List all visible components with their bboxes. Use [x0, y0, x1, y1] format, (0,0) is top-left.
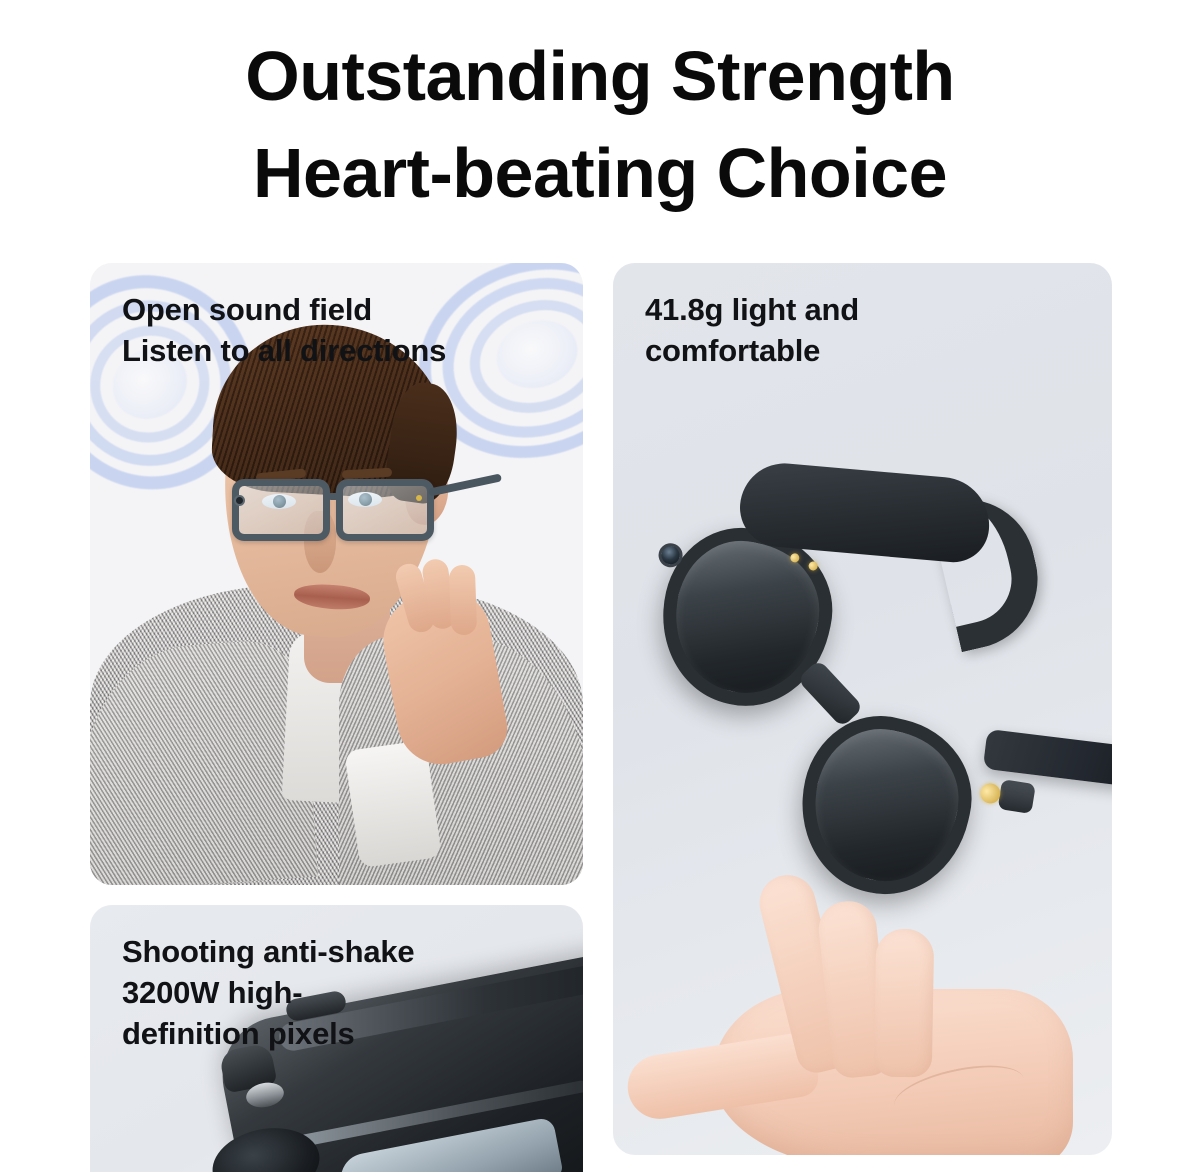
indicator-dot-icon — [416, 495, 422, 501]
feature-card-open-sound-field[interactable]: Open sound field Listen to all direction… — [90, 263, 583, 885]
feature-card-shooting-anti-shake[interactable]: Shooting anti-shake 3200W high- definiti… — [90, 905, 583, 1172]
lightweight-illustration — [613, 263, 1112, 1155]
card-title-shooting-anti-shake: Shooting anti-shake 3200W high- definiti… — [122, 931, 414, 1055]
page-title: Outstanding Strength Heart-beating Choic… — [0, 28, 1200, 221]
card-title-lightweight: 41.8g light and comfortable — [645, 289, 859, 371]
headline-line-1: Outstanding Strength — [0, 28, 1200, 125]
product-feature-page: Outstanding Strength Heart-beating Choic… — [0, 0, 1200, 1172]
feature-card-lightweight[interactable]: 41.8g light and comfortable — [613, 263, 1112, 1155]
open-palm-photo — [617, 869, 1087, 1155]
card-title-open-sound-field: Open sound field Listen to all direction… — [122, 289, 446, 371]
camera-lens-icon — [234, 495, 245, 506]
smart-sunglasses-product — [633, 451, 1112, 935]
headline-line-2: Heart-beating Choice — [0, 125, 1200, 222]
worn-smart-glasses — [232, 479, 456, 557]
